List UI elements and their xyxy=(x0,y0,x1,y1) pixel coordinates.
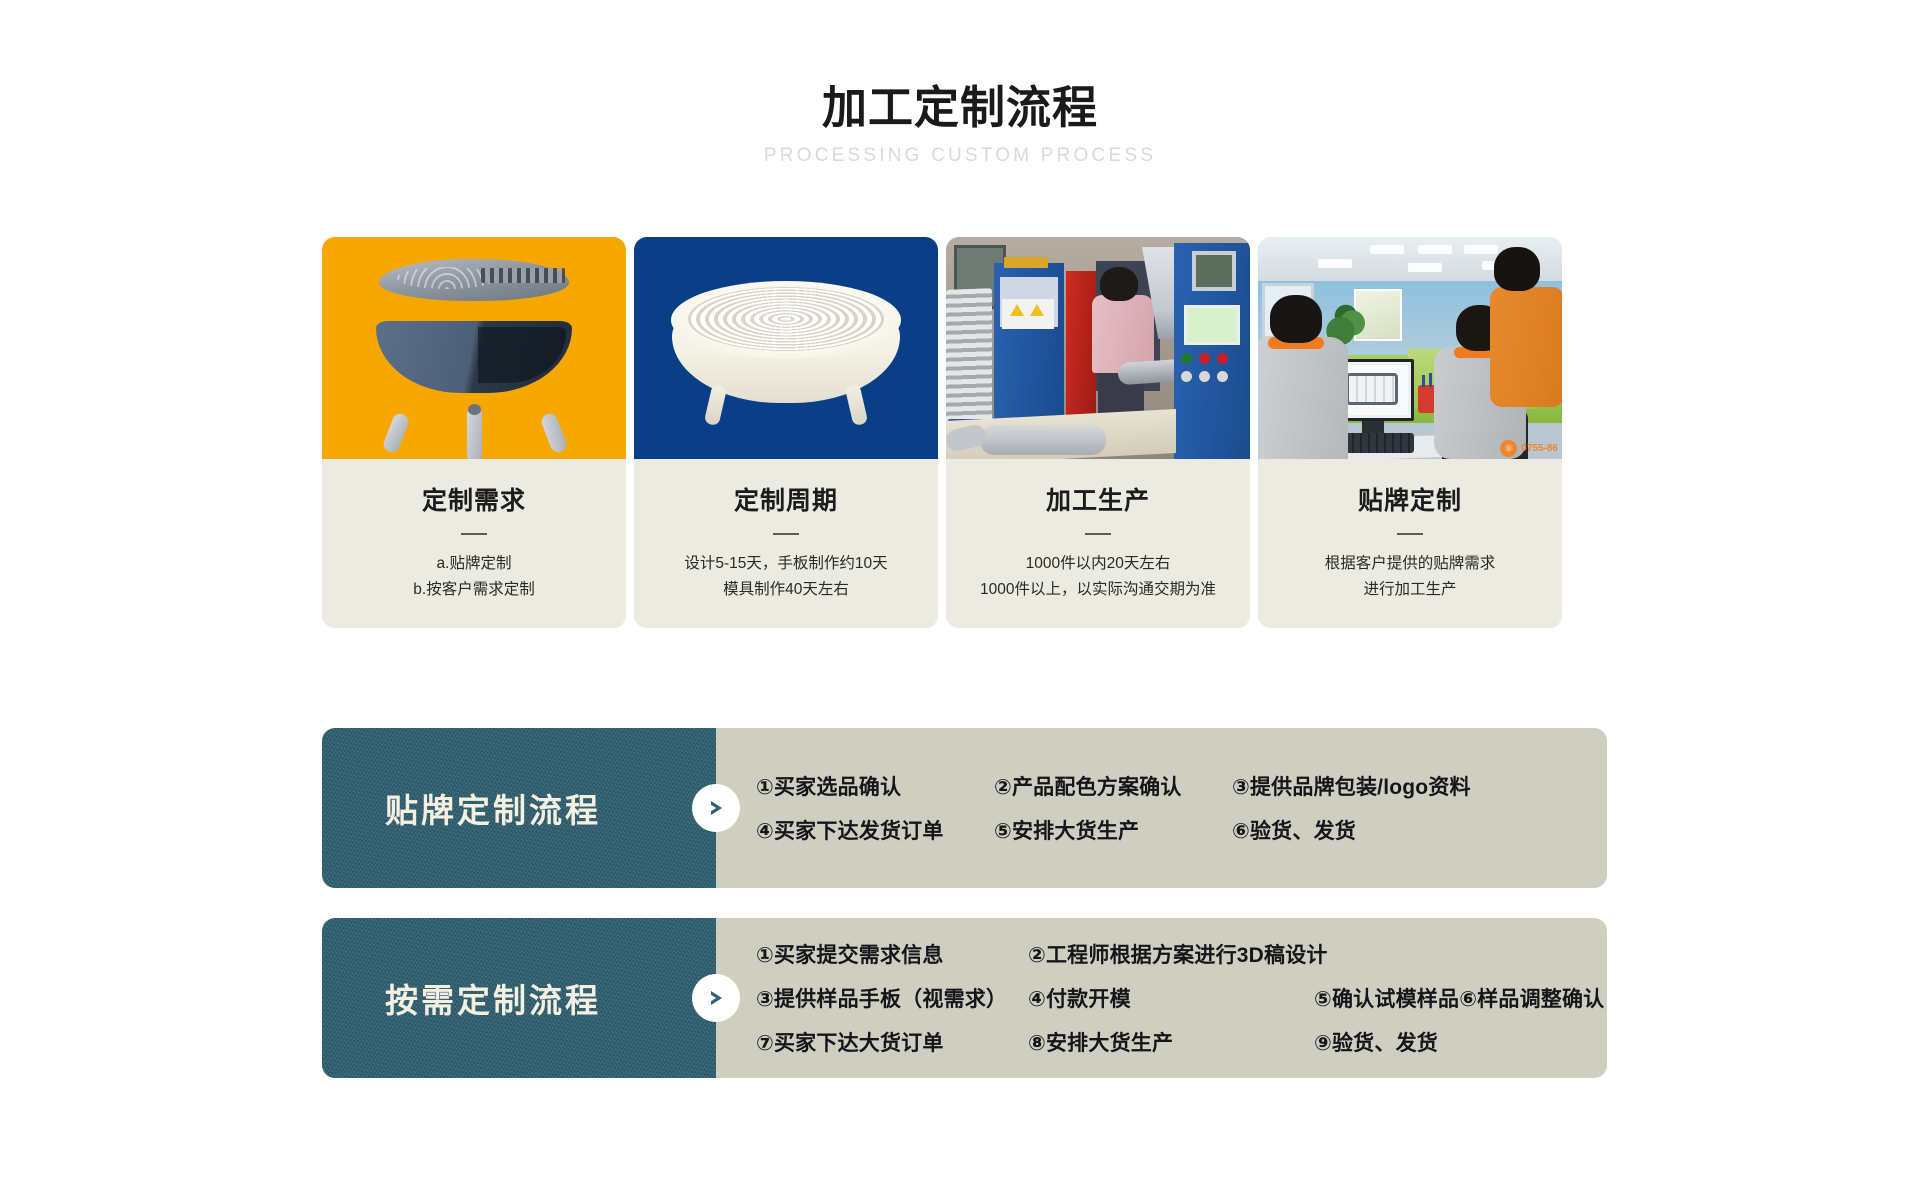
panel-button-grey-2 xyxy=(1199,371,1210,382)
process-step: ②工程师根据方案进行3D稿设计 xyxy=(1028,939,1314,969)
page-subtitle: PROCESSING CUSTOM PROCESS xyxy=(0,145,1920,167)
process-step: ⑤确认试模样品 xyxy=(1314,983,1459,1013)
engineer-1-torso xyxy=(1258,337,1348,459)
machine-nameplate xyxy=(1004,257,1048,268)
process-card-3-body: 加工生产 1000件以内20天左右 1000件以上，以实际沟通交期为准 xyxy=(946,459,1250,628)
card-divider xyxy=(773,533,799,535)
photo-watermark: ⚛ 0755-86 xyxy=(1500,440,1558,457)
card-title: 定制周期 xyxy=(648,481,924,517)
step-row: ⑦买家下达大货订单 ⑧安排大货生产 ⑨验货、发货 xyxy=(756,1020,1607,1064)
page-header: 加工定制流程 PROCESSING CUSTOM PROCESS xyxy=(0,82,1920,167)
engineer-1-head xyxy=(1270,295,1322,343)
card-title: 贴牌定制 xyxy=(1272,481,1548,517)
card-title: 定制需求 xyxy=(336,481,612,517)
process-card-1[interactable]: 定制需求 a.贴牌定制 b.按客户需求定制 xyxy=(322,237,626,628)
engineer-3-head xyxy=(1494,247,1540,291)
process-card-4-body: 贴牌定制 根据客户提供的贴牌需求 进行加工生产 xyxy=(1258,459,1562,628)
oem-process-label: 贴牌定制流程 xyxy=(385,784,601,832)
grill-lid-part xyxy=(379,259,569,301)
injection-molding-factory-photo xyxy=(946,237,1250,459)
prototype-leg-left xyxy=(704,384,728,426)
prototype-illustration xyxy=(634,237,938,459)
process-step: ⑦买家下达大货订单 xyxy=(756,1027,1028,1057)
panel-button-red-1 xyxy=(1199,353,1210,364)
prototype-leg-right xyxy=(845,384,869,426)
oem-process-bar: 贴牌定制流程 ①买家选品确认 ②产品配色方案确认 ③提供品牌包装/logo资料 … xyxy=(322,728,1607,888)
process-step: ①买家提交需求信息 xyxy=(756,939,1028,969)
office-scene: ⚛ 0755-86 xyxy=(1258,237,1562,459)
step-row: ④买家下达发货订单 ⑤安排大货生产 ⑥验货、发货 xyxy=(756,808,1607,852)
step-row: ③提供样品手板（视需求） ④付款开模 ⑤确认试模样品 ⑥样品调整确认 xyxy=(756,976,1607,1020)
worker-head xyxy=(1100,267,1138,301)
process-step: ③提供样品手板（视需求） xyxy=(756,983,1028,1013)
prototype-spiral-pattern xyxy=(688,287,884,351)
process-step: ⑧安排大货生产 xyxy=(1028,1027,1314,1057)
process-card-3[interactable]: 加工生产 1000件以内20天左右 1000件以上，以实际沟通交期为准 xyxy=(946,237,1250,628)
process-step: ⑨验货、发货 xyxy=(1314,1027,1438,1057)
processing-custom-process-page: 加工定制流程 PROCESSING CUSTOM PROCESS 定制需求 a.… xyxy=(0,0,1920,1200)
card-divider xyxy=(1397,533,1423,535)
process-step: ⑤安排大货生产 xyxy=(994,815,1232,845)
grill-leg-right xyxy=(539,411,568,454)
card-divider xyxy=(1085,533,1111,535)
card-desc-line-2: 进行加工生产 xyxy=(1272,577,1548,603)
exploded-grill-render xyxy=(322,237,626,459)
card-desc-line-1: 1000件以内20天左右 xyxy=(960,551,1236,577)
step-row: ①买家选品确认 ②产品配色方案确认 ③提供品牌包装/logo资料 xyxy=(756,764,1607,808)
ondemand-process-bar: 按需定制流程 ①买家提交需求信息 ②工程师根据方案进行3D稿设计 ③提供样品手板… xyxy=(322,918,1607,1078)
process-card-1-body: 定制需求 a.贴牌定制 b.按客户需求定制 xyxy=(322,459,626,628)
card-desc-line-2: b.按客户需求定制 xyxy=(336,577,612,603)
card-desc-line-2: 1000件以上，以实际沟通交期为准 xyxy=(960,577,1236,603)
card-desc-line-1: a.贴牌定制 xyxy=(336,551,612,577)
ondemand-process-label-panel: 按需定制流程 xyxy=(322,918,716,1078)
page-title: 加工定制流程 xyxy=(0,82,1920,134)
chevron-right-icon[interactable] xyxy=(692,784,740,832)
panel-screen-upper xyxy=(1192,251,1236,291)
watermark-text: 0755-86 xyxy=(1521,443,1558,454)
card-desc-line-2: 模具制作40天左右 xyxy=(648,577,924,603)
process-step: ⑥样品调整确认 xyxy=(1459,983,1604,1013)
panel-button-grey-3 xyxy=(1217,371,1228,382)
panel-button-green xyxy=(1181,353,1192,364)
ceiling-light-5 xyxy=(1408,263,1442,272)
process-card-row: 定制需求 a.贴牌定制 b.按客户需求定制 定制周期 设计5-15 xyxy=(322,237,1607,628)
white-prototype-photo xyxy=(634,237,938,459)
process-step: ③提供品牌包装/logo资料 xyxy=(1232,771,1471,801)
grill-leg-left xyxy=(381,411,410,454)
process-card-4[interactable]: ⚛ 0755-86 贴牌定制 根据客户提供的贴牌需求 进行加工生产 xyxy=(1258,237,1562,628)
oem-process-steps: ①买家选品确认 ②产品配色方案确认 ③提供品牌包装/logo资料 ④买家下达发货… xyxy=(716,728,1607,888)
ondemand-process-steps: ①买家提交需求信息 ②工程师根据方案进行3D稿设计 ③提供样品手板（视需求） ④… xyxy=(716,918,1607,1078)
ceiling-light-4 xyxy=(1318,259,1352,268)
engineer-3-torso xyxy=(1490,287,1562,407)
cad-drawing xyxy=(1346,373,1398,405)
process-card-2-body: 定制周期 设计5-15天，手板制作约10天 模具制作40天左右 xyxy=(634,459,938,628)
panel-button-grey-1 xyxy=(1181,371,1192,382)
process-step: ①买家选品确认 xyxy=(756,771,994,801)
grill-leg-center xyxy=(467,407,482,459)
ceiling-light-3 xyxy=(1464,245,1498,254)
process-card-2[interactable]: 定制周期 设计5-15天，手板制作约10天 模具制作40天左右 xyxy=(634,237,938,628)
ceiling-light-2 xyxy=(1418,245,1452,254)
factory-scene xyxy=(946,237,1250,459)
step-row: ①买家提交需求信息 ②工程师根据方案进行3D稿设计 xyxy=(756,932,1607,976)
process-step: ②产品配色方案确认 xyxy=(994,771,1232,801)
card-title: 加工生产 xyxy=(960,481,1236,517)
process-step: ④买家下达发货订单 xyxy=(756,815,994,845)
warning-sign xyxy=(1002,299,1054,329)
card-desc-line-1: 设计5-15天，手板制作约10天 xyxy=(648,551,924,577)
watermark-logo-icon: ⚛ xyxy=(1500,440,1517,457)
ondemand-process-label: 按需定制流程 xyxy=(385,974,601,1022)
process-step: ⑥验货、发货 xyxy=(1232,815,1356,845)
panel-screen-lower xyxy=(1184,305,1240,345)
card-desc-line-1: 根据客户提供的贴牌需求 xyxy=(1272,551,1548,577)
grill-bowl-part xyxy=(376,321,572,393)
grill-illustration xyxy=(322,237,626,459)
oem-process-label-panel: 贴牌定制流程 xyxy=(322,728,716,888)
process-step: ④付款开模 xyxy=(1028,983,1314,1013)
card-divider xyxy=(461,533,487,535)
engineering-office-photo: ⚛ 0755-86 xyxy=(1258,237,1562,459)
chevron-right-icon[interactable] xyxy=(692,974,740,1022)
ceiling-light-1 xyxy=(1370,245,1404,254)
panel-button-red-2 xyxy=(1217,353,1228,364)
molded-part-large xyxy=(980,425,1106,455)
